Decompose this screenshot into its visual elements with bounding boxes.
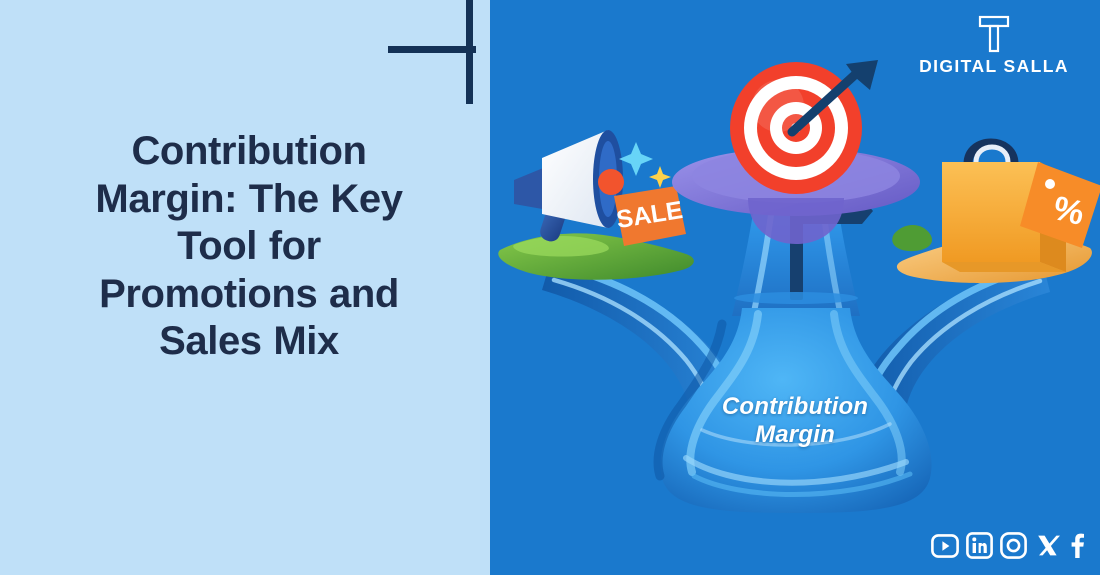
social-link-x-twitter[interactable] [1034, 532, 1061, 559]
promo-banner: Contribution Margin: The Key Tool for Pr… [0, 0, 1100, 575]
page-title: Contribution Margin: The Key Tool for Pr… [48, 128, 450, 366]
letter-t-monogram-icon [976, 14, 1012, 54]
headline-line-1: Contribution [131, 129, 366, 173]
contribution-margin-illustration: SALE [490, 58, 1100, 513]
youtube-icon [931, 533, 959, 559]
linkedin-icon [966, 532, 993, 559]
cross-bottom-left [0, 455, 200, 575]
social-link-linkedin[interactable] [966, 532, 993, 559]
headline-line-5: Sales Mix [159, 319, 339, 363]
headline-line-2: Margin: The Key [95, 177, 402, 221]
facebook-icon [1068, 532, 1086, 559]
social-links [931, 532, 1086, 559]
plus-cross-icon-horizontal [388, 46, 476, 53]
headline-line-4: Promotions and [99, 272, 399, 316]
social-link-instagram[interactable] [1000, 532, 1027, 559]
x-twitter-icon [1034, 532, 1061, 559]
headline-line-3: Tool for [177, 224, 321, 268]
illustration-svg: SALE [490, 58, 1100, 513]
megaphone-icon: SALE [498, 130, 694, 280]
left-text-panel: Contribution Margin: The Key Tool for Pr… [0, 0, 490, 575]
cross-top-right [0, 0, 490, 120]
shopping-bag-icon: % [892, 143, 1100, 283]
right-illustration-panel: DIGITAL SALLA [490, 0, 1100, 575]
sale-tag: SALE [614, 186, 686, 246]
social-link-youtube[interactable] [931, 533, 959, 559]
social-link-facebook[interactable] [1068, 532, 1086, 559]
dartboard-target-icon [672, 60, 920, 244]
instagram-icon [1000, 532, 1027, 559]
